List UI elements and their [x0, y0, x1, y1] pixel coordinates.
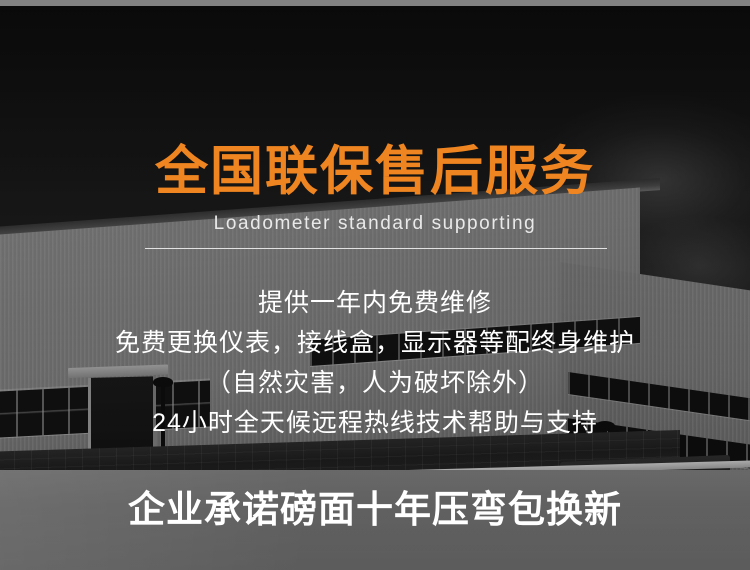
service-term-line: 免费更换仪表，接线盒，显示器等配终身维护 [0, 323, 750, 363]
service-term-line: 提供一年内免费维修 [0, 283, 750, 323]
promo-banner: 全国联保售后服务 Loadometer standard supporting … [0, 0, 750, 570]
headline-title: 全国联保售后服务 [0, 142, 750, 202]
top-gray-strip [0, 0, 750, 6]
service-term-line: （自然灾害，人为破坏除外） [0, 363, 750, 403]
headline-subtitle: Loadometer standard supporting [0, 212, 750, 236]
footer-guarantee-line: 企业承诺磅面十年压弯包换新 [0, 487, 750, 533]
divider-rule [145, 248, 607, 249]
service-term-line: 24小时全天候远程热线技术帮助与支持 [0, 403, 750, 443]
service-terms-list: 提供一年内免费维修 免费更换仪表，接线盒，显示器等配终身维护 （自然灾害，人为破… [0, 283, 750, 443]
banner-content: 全国联保售后服务 Loadometer standard supporting … [0, 0, 750, 570]
